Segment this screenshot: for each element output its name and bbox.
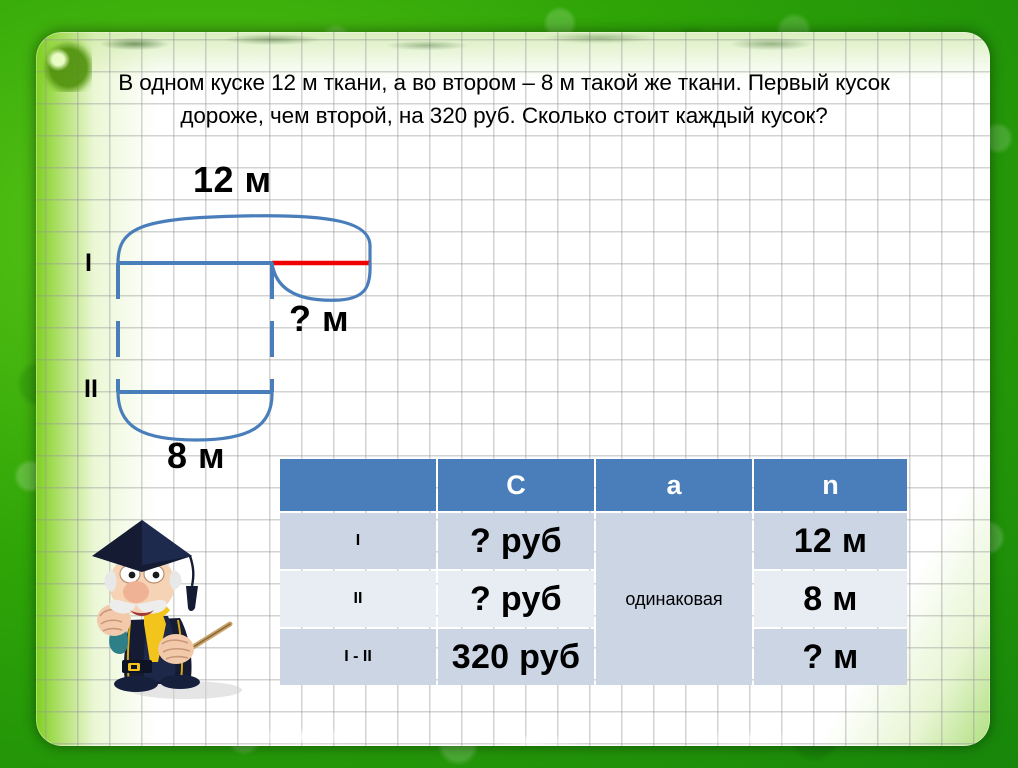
quantity-value-1: 12 м	[794, 522, 868, 560]
row-label-cell: I - II	[280, 629, 436, 685]
slide-background: В одном куске 12 м ткани, а во втором – …	[0, 0, 1018, 768]
table-header-unit-price: a	[596, 459, 752, 511]
cost-cell-1: ? руб	[438, 513, 594, 569]
row-label-1: I	[356, 532, 360, 549]
table-header-cost: C	[438, 459, 594, 511]
table-header-quantity: n	[754, 459, 907, 511]
cost-value-1: ? руб	[470, 522, 562, 560]
row-label-cell: II	[280, 571, 436, 627]
cost-cell-3: 320 руб	[438, 629, 594, 685]
table-header-quantity-label: n	[822, 470, 839, 500]
table-header-row: C a n	[280, 459, 907, 511]
unit-price-value: одинаковая	[625, 589, 722, 609]
row-label-2: II	[354, 590, 363, 607]
problem-statement: В одном куске 12 м ткани, а во втором – …	[84, 66, 924, 132]
cost-cell-2: ? руб	[438, 571, 594, 627]
professor-pointer-icon	[78, 512, 274, 708]
table-header-cost-label: C	[506, 470, 526, 500]
quantity-value-2: 8 м	[803, 580, 857, 618]
brace-difference	[272, 263, 370, 300]
quantity-value-3: ? м	[802, 638, 858, 676]
problem-table: C a n I ? руб одинаковая	[278, 457, 909, 687]
label-second-piece-length: 8 м	[167, 435, 225, 477]
label-first-piece-length: 12 м	[193, 159, 272, 201]
quantity-cell-3: ? м	[754, 629, 907, 685]
diagram-row-label-2: II	[84, 375, 98, 404]
label-difference-length: ? м	[289, 298, 349, 340]
brace-second-piece	[118, 392, 272, 440]
diagram-row-label-1: I	[85, 249, 92, 278]
table-row: I - II 320 руб ? м	[280, 629, 907, 685]
table-header-unit-price-label: a	[666, 470, 681, 500]
brace-first-piece	[118, 216, 370, 263]
row-label-3: I - II	[344, 648, 372, 665]
cost-value-2: ? руб	[470, 580, 562, 618]
quantity-cell-2: 8 м	[754, 571, 907, 627]
row-label-cell: I	[280, 513, 436, 569]
quantity-cell-1: 12 м	[754, 513, 907, 569]
table-header-blank	[280, 459, 436, 511]
table-row: II ? руб 8 м	[280, 571, 907, 627]
table-row: I ? руб одинаковая 12 м	[280, 513, 907, 569]
top-wisp-decoration	[66, 32, 926, 62]
bottom-wisp-decoration	[156, 698, 976, 746]
cost-value-3: 320 руб	[452, 638, 581, 676]
hand-icon	[158, 634, 194, 664]
unit-price-cell-merged: одинаковая	[596, 513, 752, 685]
